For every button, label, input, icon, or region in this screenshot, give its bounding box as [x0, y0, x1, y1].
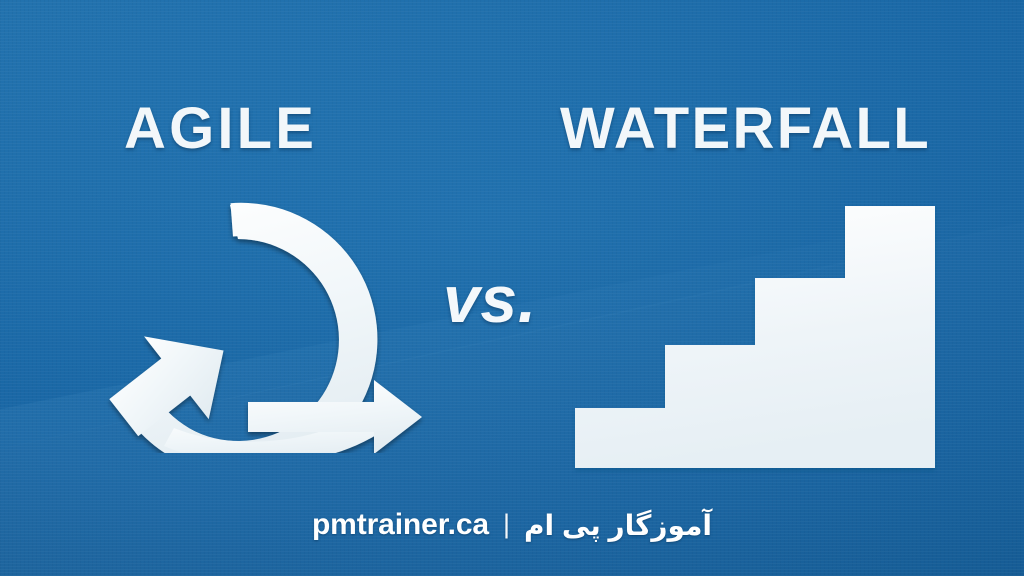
- versus-label: vs.: [443, 266, 537, 332]
- footer-separator: |: [503, 509, 510, 540]
- agile-cycle-arrow-shape: [92, 203, 422, 453]
- waterfall-stairs-icon: [560, 190, 955, 475]
- footer-branding: pmtrainer.ca | آموزگار پی ام: [0, 508, 1024, 542]
- footer-site-label: pmtrainer.ca: [312, 508, 489, 542]
- waterfall-heading: WATERFALL: [560, 100, 931, 158]
- waterfall-stairs-shape: [575, 206, 935, 468]
- promo-graphic-canvas: AGILE WATERFALL vs.: [0, 0, 1024, 576]
- agile-cycle-arrow-icon: [78, 188, 428, 453]
- agile-heading: AGILE: [124, 100, 317, 158]
- footer-localized-name: آموزگار پی ام: [524, 509, 712, 542]
